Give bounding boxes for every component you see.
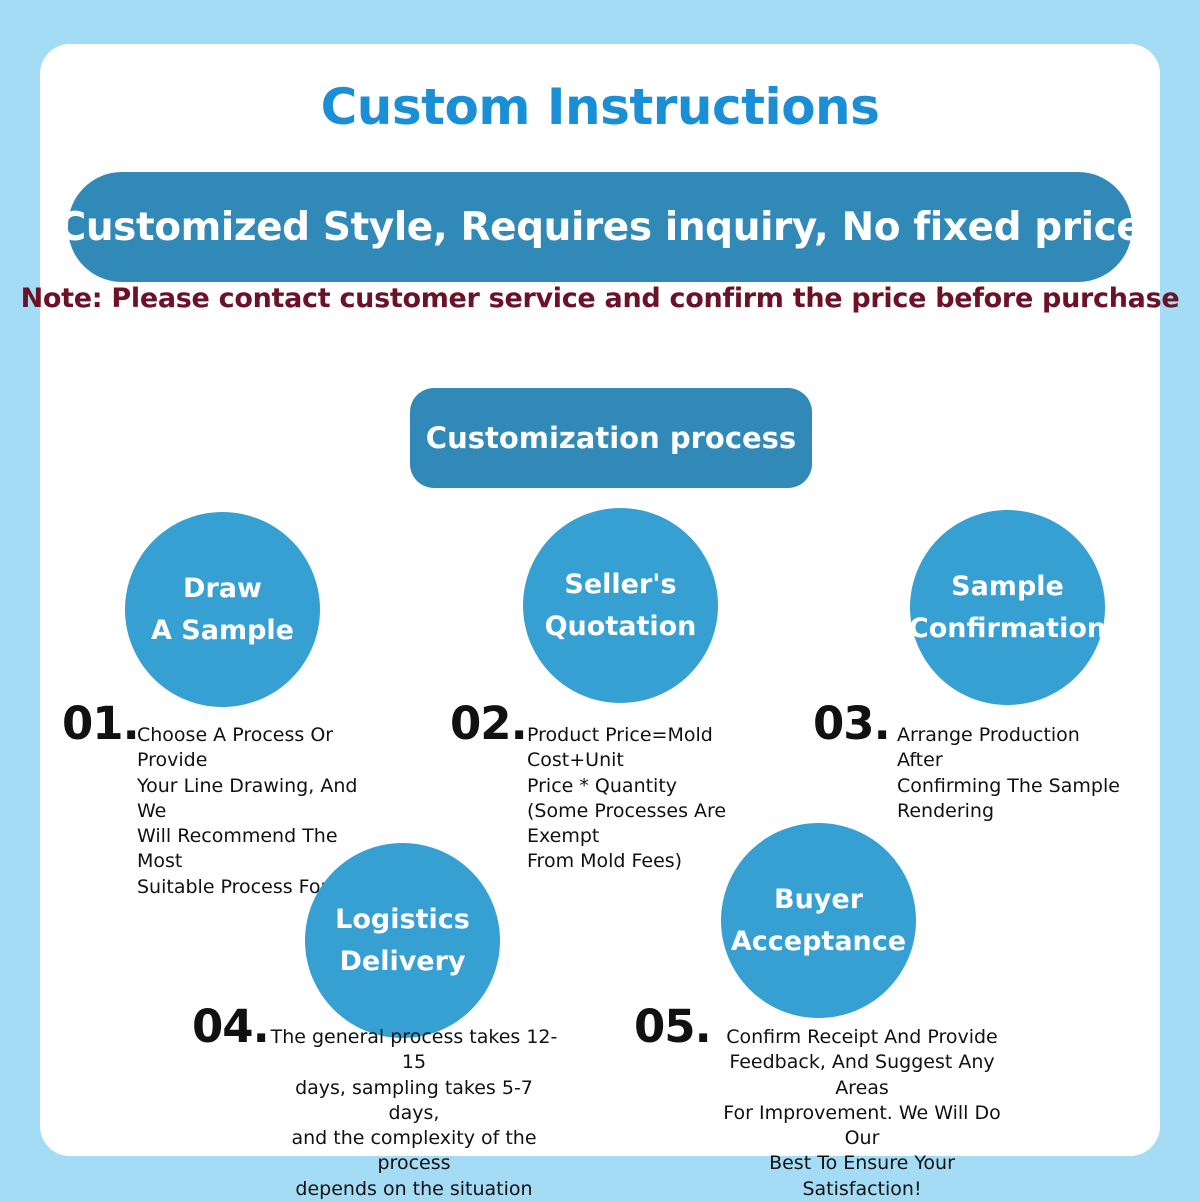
step-number-03: 03. — [813, 697, 890, 750]
step-circle-line2: Delivery — [339, 941, 465, 983]
step-circle-line2: A Sample — [151, 610, 294, 652]
step-circle-sample-confirmation: Sample Confirmation — [910, 510, 1105, 705]
step-circle-line1: Buyer — [774, 879, 863, 921]
step-circle-line1: Seller's — [564, 564, 676, 606]
step-number-04: 04. — [192, 1000, 269, 1053]
step-circle-line1: Sample — [951, 566, 1064, 608]
step-description-03: Arrange Production After Confirming The … — [897, 723, 1122, 824]
step-circle-sellers-quotation: Seller's Quotation — [523, 508, 718, 703]
step-circle-logistics-delivery: Logistics Delivery — [305, 843, 500, 1038]
step-circle-line1: Logistics — [335, 899, 470, 941]
page-title: Custom Instructions — [0, 78, 1200, 136]
highlight-banner-text: Customized Style, Requires inquiry, No f… — [58, 205, 1143, 250]
customization-process-box: Customization process — [410, 388, 812, 488]
step-description-04: The general process takes 12-15 days, sa… — [268, 1025, 560, 1202]
note-text: Note: Please contact customer service an… — [0, 283, 1200, 314]
highlight-banner: Customized Style, Requires inquiry, No f… — [68, 172, 1132, 282]
step-circle-line2: Quotation — [545, 606, 697, 648]
step-circle-buyer-acceptance: Buyer Acceptance — [721, 823, 916, 1018]
customization-process-label: Customization process — [426, 421, 796, 455]
step-number-02: 02. — [450, 697, 527, 750]
step-number-01: 01. — [62, 697, 139, 750]
step-circle-line2: Acceptance — [731, 921, 906, 963]
step-description-05: Confirm Receipt And Provide Feedback, An… — [712, 1025, 1012, 1202]
step-circle-line1: Draw — [183, 568, 262, 610]
step-number-05: 05. — [634, 1000, 711, 1053]
infographic-page: Custom Instructions Customized Style, Re… — [0, 0, 1200, 1200]
step-circle-line2: Confirmation — [909, 608, 1106, 650]
step-circle-draw-a-sample: Draw A Sample — [125, 512, 320, 707]
